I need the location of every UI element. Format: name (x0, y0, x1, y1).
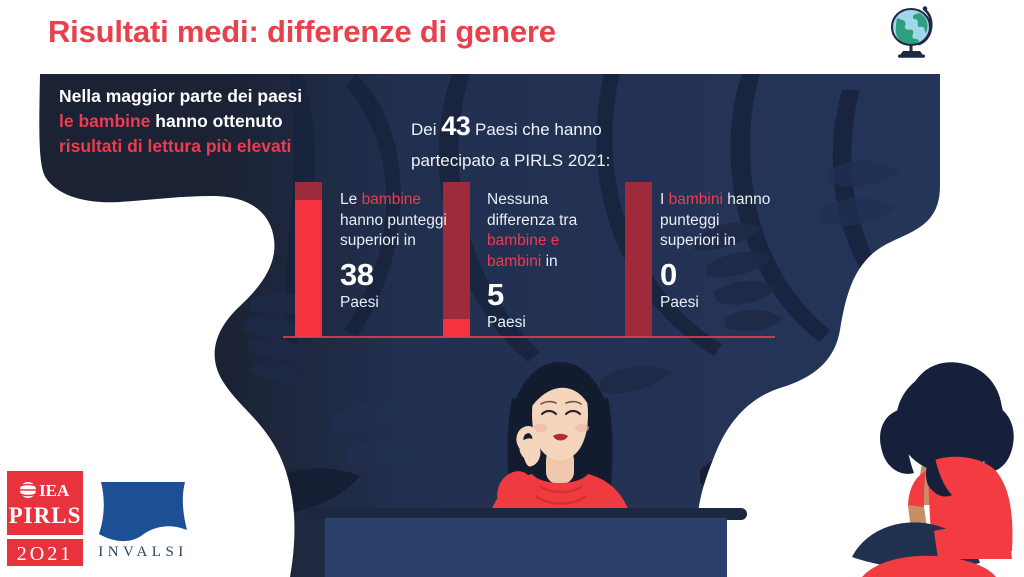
desk-body (325, 518, 727, 577)
statement-line-2-rest: hanno ottenuto (150, 111, 282, 131)
stat-number: 5 (487, 278, 599, 313)
stat-unit: Paesi (660, 293, 772, 312)
country-count: 43 (441, 111, 470, 141)
stat-post-text: in (541, 253, 557, 270)
statement-line-2: le bambine hanno ottenuto (59, 109, 359, 134)
stat-unit: Paesi (487, 313, 599, 332)
stat-pre-text: Le (340, 191, 362, 208)
panel-right-statement: Dei 43 Paesi che hanno partecipato a PIR… (411, 106, 711, 174)
girl-sitting-back-illustration (838, 345, 1024, 577)
statement-line-1: Nella maggior parte dei paesi (59, 84, 359, 109)
bar-track-bambine (295, 182, 322, 337)
statement-line-3: risultati di lettura più elevati (59, 134, 359, 159)
stat-block-nessuna-differenza: Nessuna differenza tra bambine e bambini… (487, 190, 599, 333)
bar-fill-bambine (295, 200, 322, 337)
logo-year-text: 2O21 (17, 543, 73, 565)
slide-root: Risultati medi: differenze di genere (0, 0, 1024, 577)
stat-highlight: bambini (669, 191, 723, 208)
stat-number: 0 (660, 258, 772, 293)
stat-block-bambine: Le bambine hanno punteggi superiori in 3… (340, 190, 452, 312)
stat-number: 38 (340, 258, 452, 293)
chart-baseline (283, 336, 775, 338)
bar-fill-nessuna-differenza (443, 319, 470, 337)
logo-invalsi-text: INVALSI (98, 544, 188, 560)
participating-countries-line: Dei 43 Paesi che hanno (411, 106, 711, 148)
prefix-text: Dei (411, 120, 441, 139)
stat-unit: Paesi (340, 293, 452, 312)
stat-post-text: hanno punteggi superiori in (340, 212, 447, 250)
logo-invalsi: INVALSI (95, 476, 191, 561)
panel-left-statement: Nella maggior parte dei paesi le bambine… (59, 84, 359, 159)
stat-block-bambini: I bambini hanno punteggi superiori in 0 … (660, 190, 772, 312)
logo-iea-text: IEA (39, 481, 70, 500)
logo-pirls-2021: IEA PIRLS 2O21 (7, 471, 83, 566)
stat-pre-text: I (660, 191, 669, 208)
logo-pirls-text: PIRLS (9, 503, 82, 528)
stat-pre-text: Nessuna differenza tra (487, 191, 577, 229)
middle-text: Paesi che hanno (470, 120, 601, 139)
statement-highlight-bambine: le bambine (59, 111, 150, 131)
study-name-line: partecipato a PIRLS 2021: (411, 148, 711, 174)
stat-highlight: bambine (362, 191, 421, 208)
bar-track-bambini (625, 182, 652, 337)
